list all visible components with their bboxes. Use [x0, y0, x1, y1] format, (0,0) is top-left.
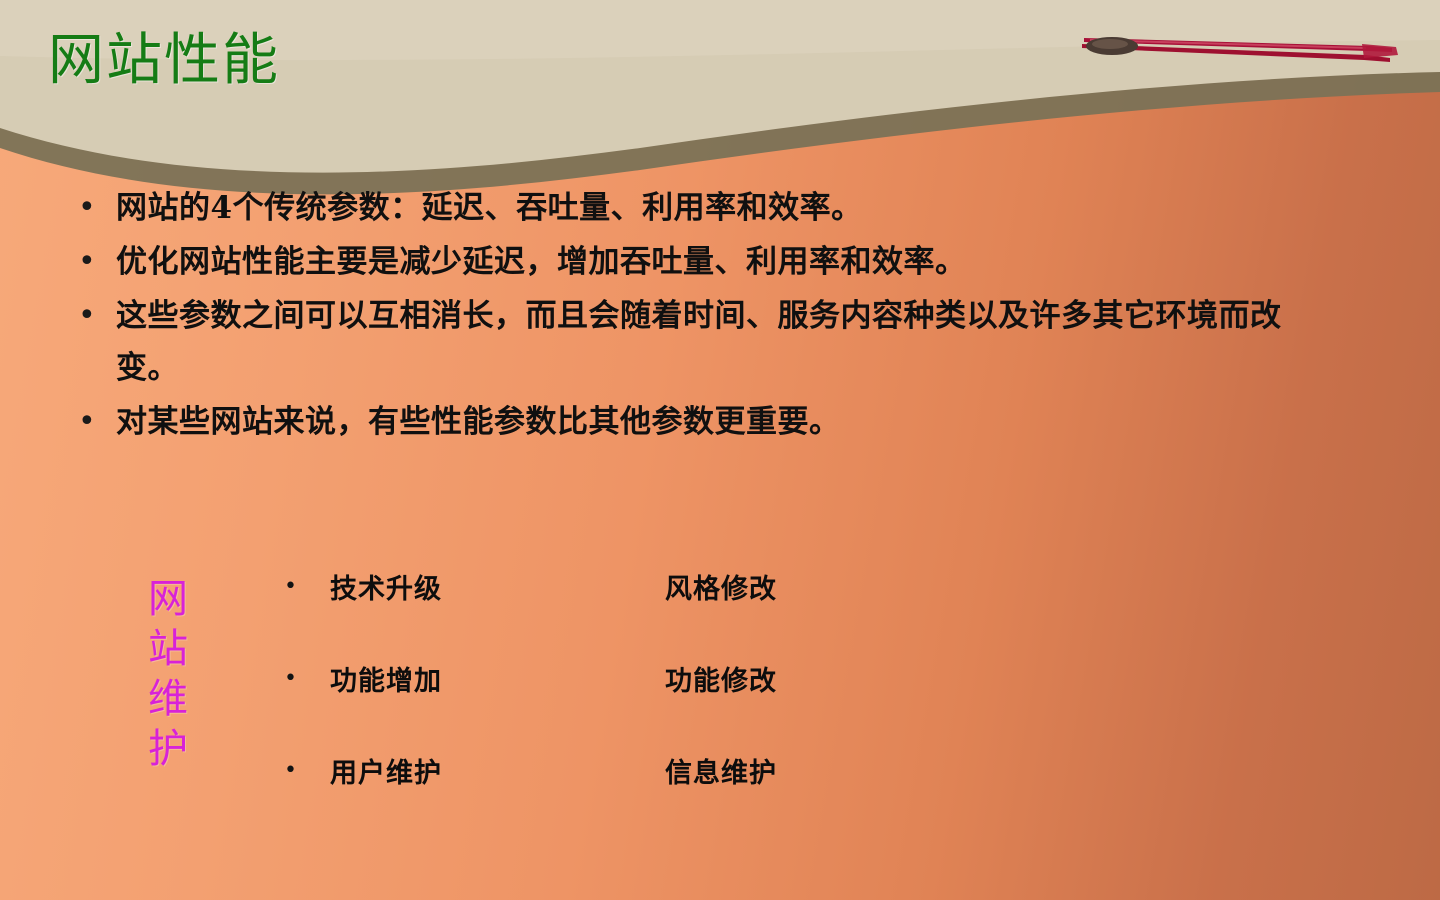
bullet-marker-icon: • [66, 396, 116, 448]
table-row: • 用户维护 信息维护 [278, 724, 978, 816]
list-item: • 对某些网站来说，有些性能参数比其他参数更重要。 [66, 396, 1366, 448]
list-item: • 网站的4个传统参数：延迟、吞吐量、利用率和效率。 [66, 182, 1366, 234]
chopstick-rest-shine [1092, 39, 1128, 49]
chopstick-upper-stick [1084, 38, 1392, 52]
bullet-marker-icon: • [278, 574, 330, 599]
maintenance-item-left: 用户维护 [330, 751, 665, 790]
vertical-label-char: 护 [140, 724, 196, 774]
bullet-text: 这些参数之间可以互相消长，而且会随着时间、服务内容种类以及许多其它环境而改变。 [116, 290, 1296, 394]
chopstick-highlight [1090, 39, 1366, 49]
bullet-marker-icon: • [278, 666, 330, 691]
bullet-marker-icon: • [66, 182, 116, 234]
bullet-marker-icon: • [66, 236, 116, 288]
maintenance-item-left: 功能增加 [330, 659, 665, 698]
maintenance-item-right: 功能修改 [665, 659, 777, 698]
list-item: • 这些参数之间可以互相消长，而且会随着时间、服务内容种类以及许多其它环境而改变… [66, 290, 1366, 394]
vertical-label-char: 站 [140, 624, 196, 674]
maintenance-item-left: 技术升级 [330, 567, 665, 606]
bullet-text: 网站的4个传统参数：延迟、吞吐量、利用率和效率。 [116, 182, 863, 234]
bullet-marker-icon: • [66, 290, 116, 342]
maintenance-item-right: 风格修改 [665, 567, 777, 606]
chopstick-tip-cluster [1362, 44, 1398, 58]
vertical-section-label: 网 站 维 护 [140, 574, 196, 774]
chopstick-lower-stick [1082, 44, 1390, 62]
presentation-slide: 网站性能 • 网站的4个传统参数：延迟、吞吐量、利用率和效率。 • 优化网站性能… [0, 0, 1440, 900]
chopstick-rest [1086, 37, 1138, 55]
bullet-text: 对某些网站来说，有些性能参数比其他参数更重要。 [116, 396, 841, 448]
page-title: 网站性能 [48, 30, 280, 92]
table-row: • 技术升级 风格修改 [278, 540, 978, 632]
bullet-marker-icon: • [278, 758, 330, 783]
maintenance-list: • 技术升级 风格修改 • 功能增加 功能修改 • 用户维护 信息维护 [278, 540, 978, 816]
vertical-label-char: 网 [140, 574, 196, 624]
maintenance-item-right: 信息维护 [665, 751, 777, 790]
bullet-list: • 网站的4个传统参数：延迟、吞吐量、利用率和效率。 • 优化网站性能主要是减少… [66, 182, 1366, 450]
red-chopsticks-ornament [1070, 22, 1400, 74]
bullet-text: 优化网站性能主要是减少延迟，增加吞吐量、利用率和效率。 [116, 236, 967, 288]
vertical-label-char: 维 [140, 674, 196, 724]
list-item: • 优化网站性能主要是减少延迟，增加吞吐量、利用率和效率。 [66, 236, 1366, 288]
table-row: • 功能增加 功能修改 [278, 632, 978, 724]
